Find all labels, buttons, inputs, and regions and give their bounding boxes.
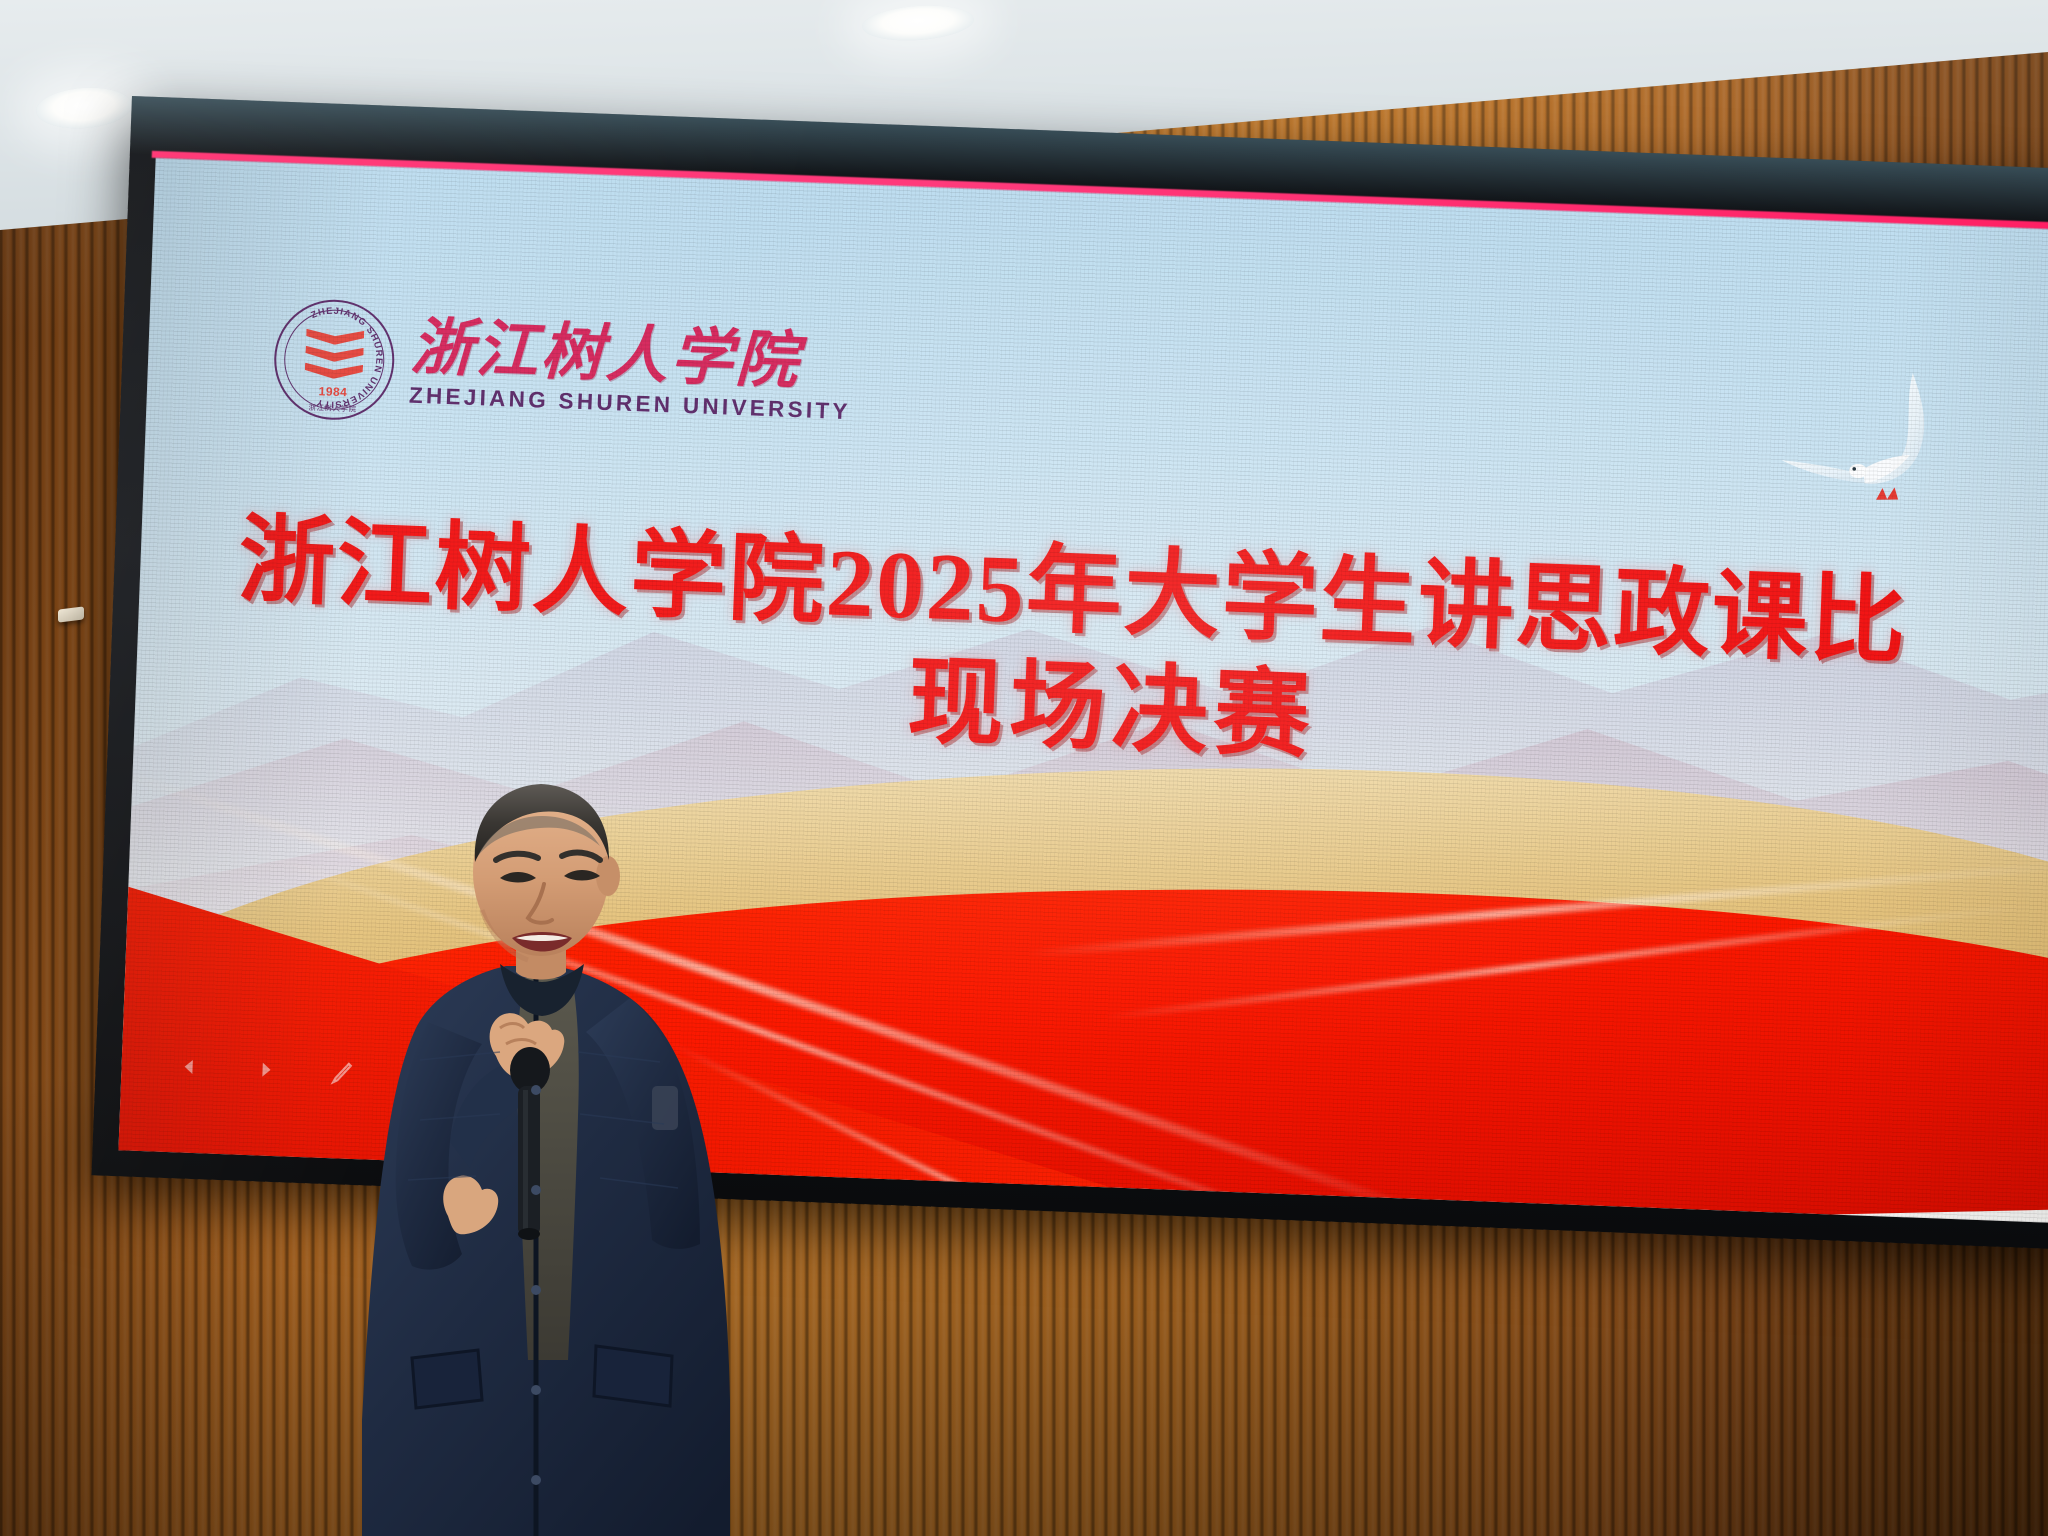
university-logo: ZHEJIANG SHUREN UNIVERSITY 1984 浙江树人学院 浙…	[272, 298, 854, 440]
chevron-emblem-icon	[304, 329, 364, 385]
jacket-snap	[531, 1385, 541, 1395]
triangle-left-icon	[178, 1055, 201, 1078]
jacket-pocket-right	[594, 1346, 672, 1406]
triangle-right-icon	[254, 1058, 277, 1081]
jacket-snap	[531, 1185, 541, 1195]
previous-slide-button[interactable]	[169, 1046, 210, 1087]
jacket-snap	[531, 1285, 541, 1295]
dove-icon	[1757, 345, 2024, 545]
auditorium-scene: ZHEJIANG SHUREN UNIVERSITY 1984 浙江树人学院 浙…	[0, 0, 2048, 1536]
jacket-snap	[531, 1475, 541, 1485]
university-name-cn: 浙江树人学院	[410, 317, 854, 396]
university-seal-icon: ZHEJIANG SHUREN UNIVERSITY 1984 浙江树人学院	[272, 298, 396, 422]
jacket-pocket-left	[412, 1350, 482, 1408]
next-slide-button[interactable]	[245, 1049, 286, 1090]
jacket-snap	[531, 1085, 541, 1095]
presenter-person	[300, 760, 780, 1536]
